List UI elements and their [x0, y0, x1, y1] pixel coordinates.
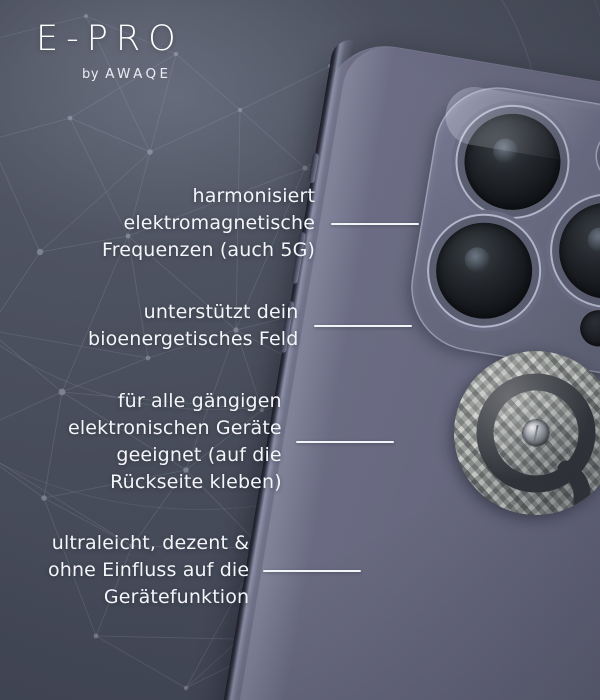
feature-line: Rückseite kleben) [68, 469, 282, 496]
feature-line: ohne Einfluss auf die [48, 557, 249, 584]
disc-center-rivet-icon [523, 420, 549, 446]
feature-line: elektromagnetische [102, 210, 315, 237]
logo-brand-name: AWAQE [105, 68, 171, 82]
leader-line [263, 570, 361, 572]
logo-title: E-PRO [36, 22, 184, 57]
feature-line: für alle gängigen [68, 388, 282, 415]
feature-line: bioenergetisches Feld [88, 326, 298, 353]
feature-text: harmonisiert elektromagnetische Frequenz… [102, 183, 315, 264]
leader-line [331, 223, 419, 225]
feature-line: ultraleicht, dezent & [48, 530, 249, 557]
logo-subtitle: by AWAQE [82, 68, 184, 82]
product-graphic-canvas: E-PRO by AWAQE harmonisiert elektromagne… [0, 0, 600, 700]
feature-line: Gerätefunktion [48, 584, 249, 611]
feature-line: Frequenzen (auch 5G) [102, 237, 315, 264]
feature-callout-ultraleicht: ultraleicht, dezent & ohne Einfluss auf … [48, 530, 361, 611]
feature-callout-geraete-geeignet: für alle gängigen elektronischen Geräte … [68, 388, 394, 496]
feature-line: harmonisiert [102, 183, 315, 210]
feature-text: für alle gängigen elektronischen Geräte … [68, 388, 282, 496]
leader-line [296, 441, 394, 443]
brand-logo: E-PRO by AWAQE [36, 22, 184, 82]
feature-line: geeignet (auf die [68, 442, 282, 469]
feature-line: unterstützt dein [88, 299, 298, 326]
leader-line [314, 325, 412, 327]
feature-line: elektronischen Geräte [68, 415, 282, 442]
carbon-fiber-harmonizer-disc [454, 351, 600, 515]
feature-text: ultraleicht, dezent & ohne Einfluss auf … [48, 530, 249, 611]
feature-callout-harmonisiert: harmonisiert elektromagnetische Frequenz… [102, 183, 419, 264]
feature-text: unterstützt dein bioenergetisches Feld [88, 299, 298, 353]
logo-by-word: by [82, 68, 99, 81]
feature-callout-bioenergetisches-feld: unterstützt dein bioenergetisches Feld [88, 299, 412, 353]
